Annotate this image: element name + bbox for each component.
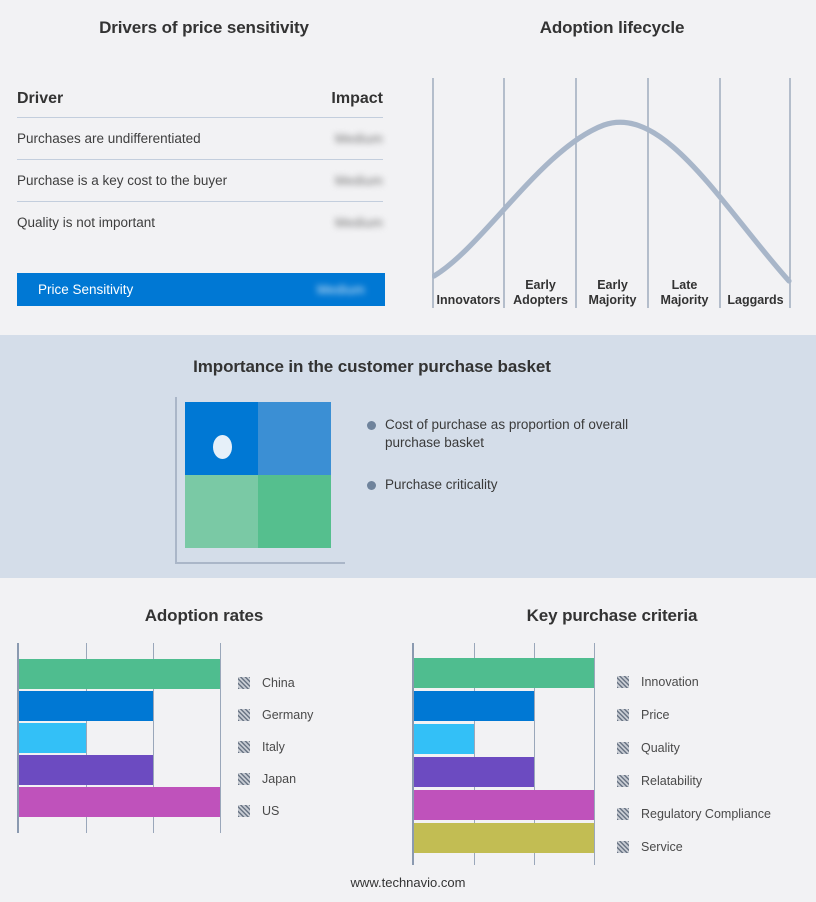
legend-label: Purchase criticality (385, 476, 498, 494)
legend-item: Italy (238, 731, 313, 763)
hatch-swatch-icon (238, 677, 250, 689)
lifecycle-stage-labels: Innovators EarlyAdopters EarlyMajority L… (432, 78, 792, 308)
legend-label: China (262, 676, 295, 690)
cell-impact-redacted: Medium (335, 173, 383, 188)
bar-relatability (414, 757, 534, 787)
matrix-axis-horizontal (175, 562, 345, 564)
price-sensitivity-summary-row: Price Sensitivity Medium (17, 273, 385, 306)
plot-area (17, 643, 221, 833)
bar-japan (19, 755, 153, 785)
matrix-position-marker (213, 435, 232, 459)
legend-label: Price (641, 708, 669, 722)
adoption-lifecycle-chart: Innovators EarlyAdopters EarlyMajority L… (432, 78, 792, 308)
legend-item: Innovation (617, 665, 771, 698)
legend-item: Relatability (617, 764, 771, 797)
panel-key-purchase-criteria: Key purchase criteria Innovation (408, 578, 816, 902)
key-purchase-criteria-chart: Innovation Price Quality Relatability Re… (412, 643, 812, 868)
bar-quality (414, 724, 474, 754)
matrix-quadrant-top-right (258, 402, 331, 475)
cell-driver: Quality is not important (17, 215, 155, 230)
bar-germany (19, 691, 153, 721)
cell-driver: Purchases are undifferentiated (17, 131, 201, 146)
legend-label: Service (641, 840, 683, 854)
bottom-section: Adoption rates China (0, 578, 816, 902)
legend-label: US (262, 804, 279, 818)
lifecycle-label-early-adopters: EarlyAdopters (505, 278, 576, 308)
legend-label: Regulatory Compliance (641, 807, 771, 821)
basket-legend: Cost of purchase as proportion of overal… (367, 416, 667, 518)
drivers-table: Driver Impact Purchases are undifferenti… (17, 90, 383, 243)
legend-item: Purchase criticality (367, 476, 667, 494)
matrix-quadrant-bottom-left (185, 475, 258, 548)
bar-china (19, 659, 220, 689)
cell-impact-redacted: Medium (335, 131, 383, 146)
legend-label: Cost of purchase as proportion of overal… (385, 416, 640, 452)
page-title-lifecycle: Adoption lifecycle (408, 18, 816, 38)
legend-item: Quality (617, 731, 771, 764)
hatch-swatch-icon (238, 741, 250, 753)
gridline (220, 643, 221, 833)
table-row: Quality is not important Medium (17, 202, 383, 243)
hatch-swatch-icon (238, 773, 250, 785)
adoption-rates-legend: China Germany Italy Japan US (238, 667, 313, 827)
legend-label: Innovation (641, 675, 699, 689)
panel-adoption-lifecycle: Adoption lifecycle Innovators EarlyAdopt… (408, 0, 816, 335)
column-header-impact: Impact (331, 90, 383, 108)
lifecycle-label-laggards: Laggards (721, 293, 790, 308)
table-header-row: Driver Impact (17, 90, 383, 118)
column-header-driver: Driver (17, 90, 63, 108)
legend-item: Japan (238, 763, 313, 795)
cell-driver-highlight: Price Sensitivity (38, 282, 133, 297)
cell-impact-redacted: Medium (335, 215, 383, 230)
legend-item: Service (617, 830, 771, 863)
bar-italy (19, 723, 86, 753)
lifecycle-label-innovators: Innovators (433, 293, 504, 308)
legend-label: Germany (262, 708, 313, 722)
bar-regulatory-compliance (414, 790, 594, 820)
page-title-basket: Importance in the customer purchase bask… (0, 357, 744, 377)
bar-us (19, 787, 220, 817)
top-section: Drivers of price sensitivity Driver Impa… (0, 0, 816, 335)
page-title-drivers: Drivers of price sensitivity (0, 18, 408, 38)
table-row: Purchase is a key cost to the buyer Medi… (17, 160, 383, 202)
bullet-dot-icon (367, 481, 376, 490)
bar-service (414, 823, 594, 853)
plot-area (412, 643, 596, 865)
legend-item: China (238, 667, 313, 699)
footer-url: www.technavio.com (0, 875, 816, 890)
adoption-rates-chart: China Germany Italy Japan US (17, 643, 397, 843)
bar-innovation (414, 658, 594, 688)
legend-label: Quality (641, 741, 680, 755)
hatch-swatch-icon (617, 841, 629, 853)
lifecycle-label-early-majority: EarlyMajority (577, 278, 648, 308)
legend-item: Price (617, 698, 771, 731)
legend-item: US (238, 795, 313, 827)
cell-driver: Purchase is a key cost to the buyer (17, 173, 227, 188)
hatch-swatch-icon (238, 805, 250, 817)
page-title-adoption-rates: Adoption rates (0, 606, 408, 626)
legend-label: Italy (262, 740, 285, 754)
hatch-swatch-icon (617, 676, 629, 688)
hatch-swatch-icon (617, 709, 629, 721)
gridline (594, 643, 595, 865)
legend-item: Cost of purchase as proportion of overal… (367, 416, 667, 452)
lifecycle-label-late-majority: LateMajority (649, 278, 720, 308)
hatch-swatch-icon (617, 742, 629, 754)
legend-label: Relatability (641, 774, 702, 788)
legend-item: Germany (238, 699, 313, 731)
matrix-quadrant-bottom-right (258, 475, 331, 548)
hatch-swatch-icon (617, 775, 629, 787)
purchase-basket-matrix (185, 402, 331, 548)
hatch-swatch-icon (238, 709, 250, 721)
panel-adoption-rates: Adoption rates China (0, 578, 408, 902)
matrix-axis-vertical (175, 397, 177, 562)
bar-price (414, 691, 534, 721)
hatch-swatch-icon (617, 808, 629, 820)
cell-impact-highlight-redacted: Medium (317, 282, 365, 297)
page-title-key-criteria: Key purchase criteria (408, 606, 816, 626)
legend-item: Regulatory Compliance (617, 797, 771, 830)
panel-drivers-of-price-sensitivity: Drivers of price sensitivity Driver Impa… (0, 0, 408, 335)
table-row: Purchases are undifferentiated Medium (17, 118, 383, 160)
bullet-dot-icon (367, 421, 376, 430)
legend-label: Japan (262, 772, 296, 786)
key-criteria-legend: Innovation Price Quality Relatability Re… (617, 665, 771, 863)
